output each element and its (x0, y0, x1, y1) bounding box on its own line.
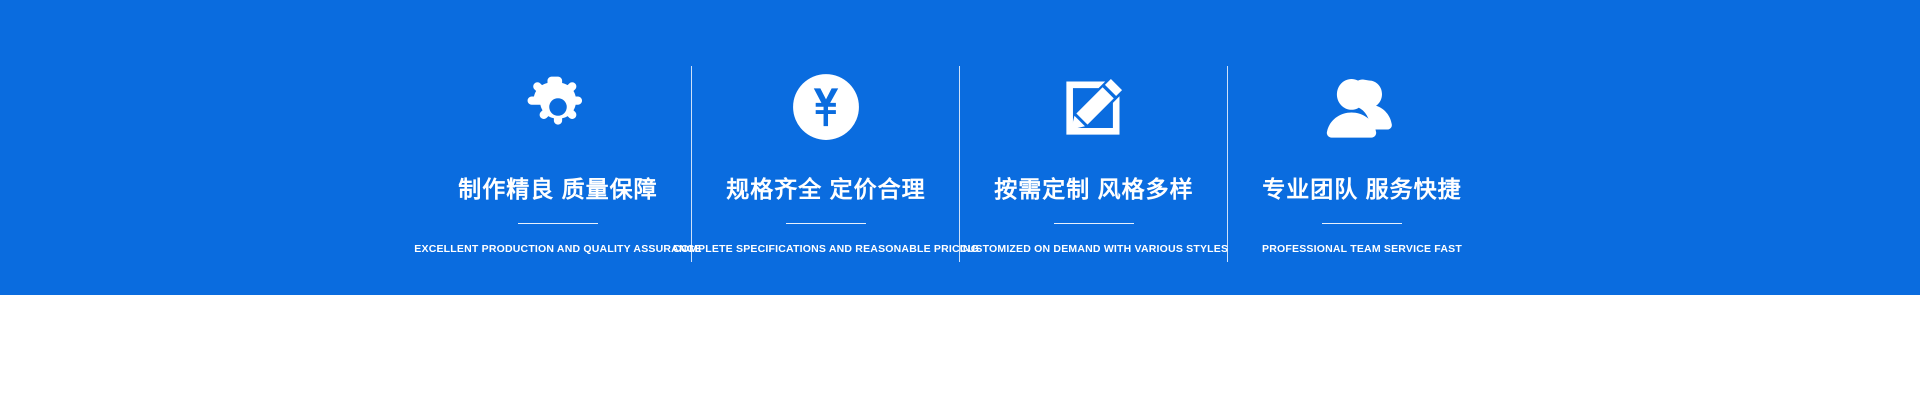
feature-item-customization[interactable]: 按需定制 风格多样 CUSTOMIZED ON DEMAND WITH VARI… (960, 0, 1228, 295)
feature-title: 制作精良 质量保障 (458, 178, 657, 201)
feature-divider-rule (1322, 223, 1402, 224)
feature-item-quality[interactable]: 制作精良 质量保障 EXCELLENT PRODUCTION AND QUALI… (424, 0, 692, 295)
feature-item-pricing[interactable]: 规格齐全 定价合理 COMPLETE SPECIFICATIONS AND RE… (692, 0, 960, 295)
feature-title: 规格齐全 定价合理 (726, 178, 925, 201)
gear-icon (525, 48, 591, 166)
bottom-strip (0, 295, 1920, 401)
users-icon (1322, 48, 1402, 166)
feature-item-team[interactable]: 专业团队 服务快捷 PROFESSIONAL TEAM SERVICE FAST (1228, 0, 1496, 295)
feature-divider-rule (1054, 223, 1134, 224)
feature-banner: 制作精良 质量保障 EXCELLENT PRODUCTION AND QUALI… (0, 0, 1920, 295)
feature-subtitle: COMPLETE SPECIFICATIONS AND REASONABLE P… (673, 244, 979, 255)
feature-title: 按需定制 风格多样 (994, 178, 1193, 201)
feature-subtitle: CUSTOMIZED ON DEMAND WITH VARIOUS STYLES (960, 244, 1228, 255)
feature-list: 制作精良 质量保障 EXCELLENT PRODUCTION AND QUALI… (0, 0, 1920, 295)
feature-divider-rule (786, 223, 866, 224)
pencil-square-icon (1060, 48, 1128, 166)
feature-title: 专业团队 服务快捷 (1262, 178, 1461, 201)
yen-circle-icon (792, 48, 860, 166)
feature-subtitle: EXCELLENT PRODUCTION AND QUALITY ASSURAN… (414, 244, 701, 255)
feature-divider-rule (518, 223, 598, 224)
feature-subtitle: PROFESSIONAL TEAM SERVICE FAST (1262, 244, 1462, 255)
